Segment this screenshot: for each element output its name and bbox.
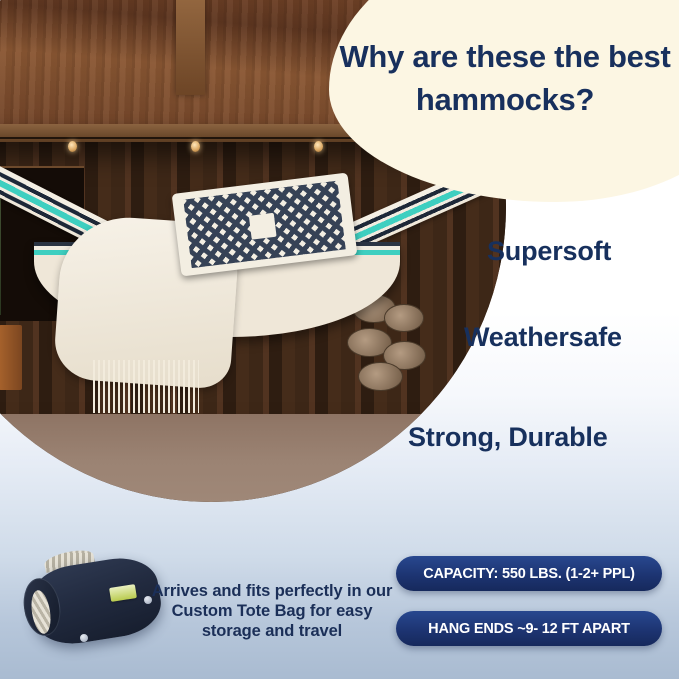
feature-weathersafe: Weathersafe bbox=[464, 322, 622, 353]
roof-beam bbox=[176, 0, 206, 95]
copper-post bbox=[0, 325, 22, 390]
blanket-fringe bbox=[93, 360, 199, 413]
product-infographic: Why are these the best hammocks? Superso… bbox=[0, 0, 679, 679]
tote-bag-image bbox=[18, 548, 172, 652]
feature-strong-durable: Strong, Durable bbox=[408, 422, 608, 453]
page-title: Why are these the best hammocks? bbox=[337, 36, 673, 122]
feature-supersoft: Supersoft bbox=[487, 236, 611, 267]
tote-caption: Arrives and fits perfectly in our Custom… bbox=[150, 581, 394, 641]
badge-capacity: CAPACITY: 550 LBS. (1-2+ PPL) bbox=[396, 556, 662, 591]
light-bulb bbox=[68, 141, 77, 152]
light-bulb bbox=[191, 141, 200, 152]
light-bulb bbox=[314, 141, 323, 152]
tote-stud bbox=[80, 634, 88, 642]
badge-hang-distance: HANG ENDS ~9- 12 FT APART bbox=[396, 611, 662, 646]
